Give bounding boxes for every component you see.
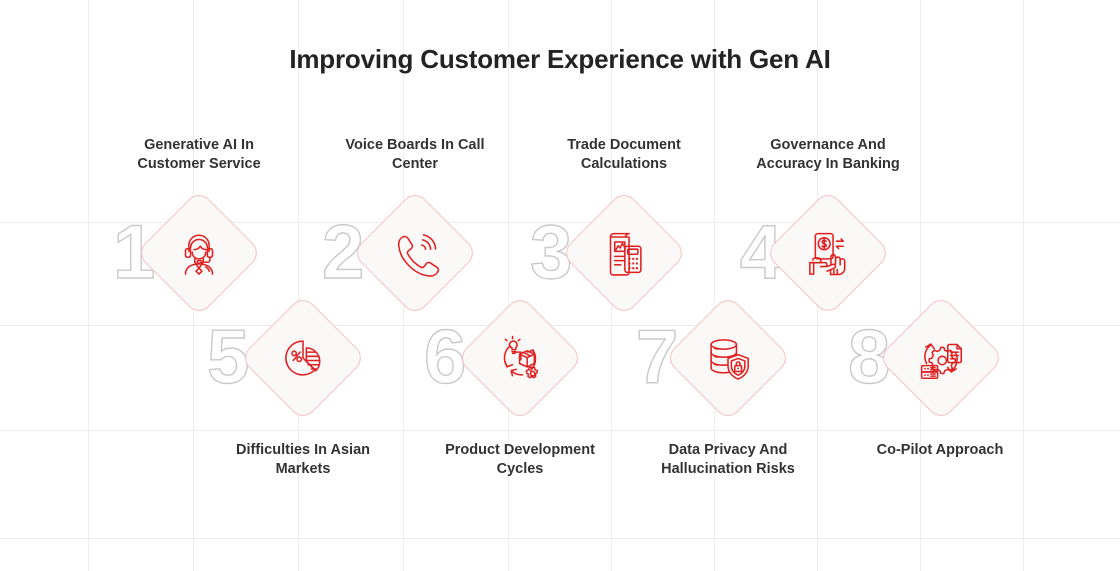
item-8-label: Co-Pilot Approach: [850, 441, 1030, 460]
item-7-label: Data Privacy And Hallucination Risks: [638, 441, 818, 479]
infographic-canvas: Improving Customer Experience with Gen A…: [0, 0, 1120, 571]
grid-vertical-line-8: [920, 0, 921, 571]
database-shield-lock-icon: [701, 331, 755, 385]
grid-vertical-line-6: [714, 0, 715, 571]
item-6-label: Product Development Cycles: [430, 441, 610, 479]
grid-vertical-line-2: [298, 0, 299, 571]
grid-vertical-line-0: [88, 0, 89, 571]
item-1-label: Generative AI In Customer Service: [109, 136, 289, 174]
item-5-label: Difficulties In Asian Markets: [213, 441, 393, 479]
item-2-label: Voice Boards In Call Center: [325, 136, 505, 174]
item-3-label: Trade Document Calculations: [534, 136, 714, 174]
page-title: Improving Customer Experience with Gen A…: [0, 44, 1120, 75]
hand-mobile-payment-transfer-icon: [801, 226, 855, 280]
box-lightbulb-gear-cycle-icon: [493, 331, 547, 385]
phone-handset-waves-icon: [388, 226, 442, 280]
grid-vertical-line-9: [1023, 0, 1024, 571]
grid-horizontal-line-2: [0, 430, 1120, 431]
item-6-diamond[interactable]: [456, 294, 584, 422]
headset-support-agent-icon: [172, 226, 226, 280]
item-8-diamond[interactable]: [877, 294, 1005, 422]
pie-chart-percent-icon: [276, 331, 330, 385]
item-4-label: Governance And Accuracy In Banking: [738, 136, 918, 174]
gear-document-server-cycle-icon: [914, 331, 968, 385]
grid-vertical-line-4: [508, 0, 509, 571]
document-calculator-icon: [597, 226, 651, 280]
item-5-diamond[interactable]: [239, 294, 367, 422]
grid-horizontal-line-3: [0, 538, 1120, 539]
item-7-diamond[interactable]: [664, 294, 792, 422]
